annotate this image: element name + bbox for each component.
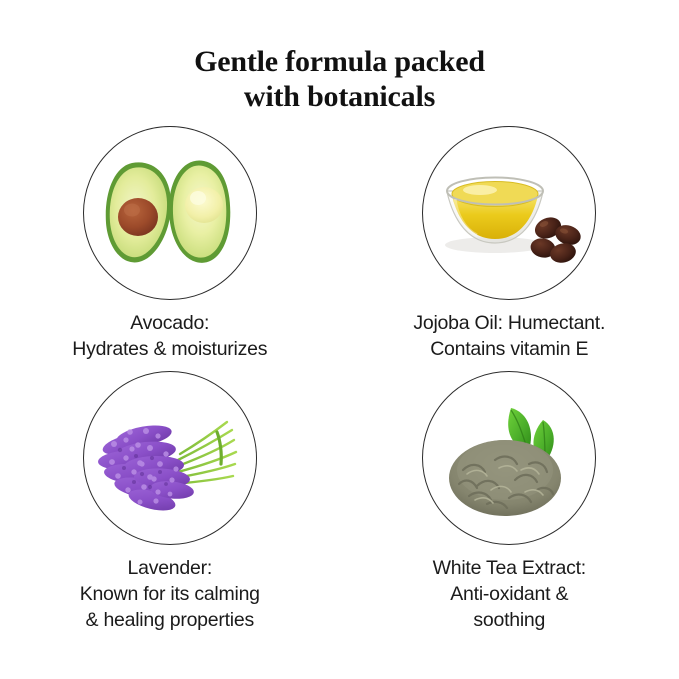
caption-line: White Tea Extract:: [433, 556, 586, 582]
ingredients-infographic: Gentle formula packed with botanicals: [0, 0, 679, 679]
jojoba-oil-icon: [425, 129, 593, 297]
avocado-pit-cavity: [185, 187, 223, 223]
avocado-cavity-highlight: [190, 191, 206, 205]
jojoba-oil-image-circle: [422, 126, 596, 300]
caption-jojoba-oil: Jojoba Oil: Humectant. Contains vitamin …: [413, 311, 605, 363]
lavender-icon: [86, 374, 254, 542]
caption-lavender: Lavender: Known for its calming & healin…: [80, 556, 260, 634]
caption-avocado: Avocado: Hydrates & moisturizes: [72, 311, 267, 363]
avocado-pit: [118, 198, 158, 236]
ingredient-card-jojoba-oil: Jojoba Oil: Humectant. Contains vitamin …: [340, 126, 679, 363]
avocado-icon: [86, 129, 254, 297]
title-line-1: Gentle formula packed: [194, 44, 485, 79]
caption-line: Lavender:: [80, 556, 260, 582]
avocado-image-circle: [83, 126, 257, 300]
oil-highlight: [463, 185, 497, 195]
caption-line: Anti-oxidant &: [433, 582, 586, 608]
caption-line: & healing properties: [80, 608, 260, 634]
ingredients-grid: Avocado: Hydrates & moisturizes: [0, 126, 679, 634]
white-tea-icon: [425, 374, 593, 542]
ingredient-card-white-tea-extract: White Tea Extract: Anti-oxidant & soothi…: [340, 365, 679, 634]
ingredient-card-lavender: Lavender: Known for its calming & healin…: [0, 365, 340, 634]
jojoba-seeds: [529, 214, 584, 266]
avocado-pit-highlight: [124, 204, 140, 217]
lavender-flowers: [97, 422, 194, 515]
caption-line: Contains vitamin E: [413, 337, 605, 363]
white-tea-image-circle: [422, 371, 596, 545]
caption-line: Hydrates & moisturizes: [72, 337, 267, 363]
caption-line: soothing: [433, 608, 586, 634]
title-line-2: with botanicals: [194, 79, 485, 114]
caption-white-tea-extract: White Tea Extract: Anti-oxidant & soothi…: [433, 556, 586, 634]
caption-line: Avocado:: [72, 311, 267, 337]
ingredient-card-avocado: Avocado: Hydrates & moisturizes: [0, 126, 340, 363]
caption-line: Jojoba Oil: Humectant.: [413, 311, 605, 337]
page-title: Gentle formula packed with botanicals: [194, 44, 485, 114]
caption-line: Known for its calming: [80, 582, 260, 608]
lavender-image-circle: [83, 371, 257, 545]
